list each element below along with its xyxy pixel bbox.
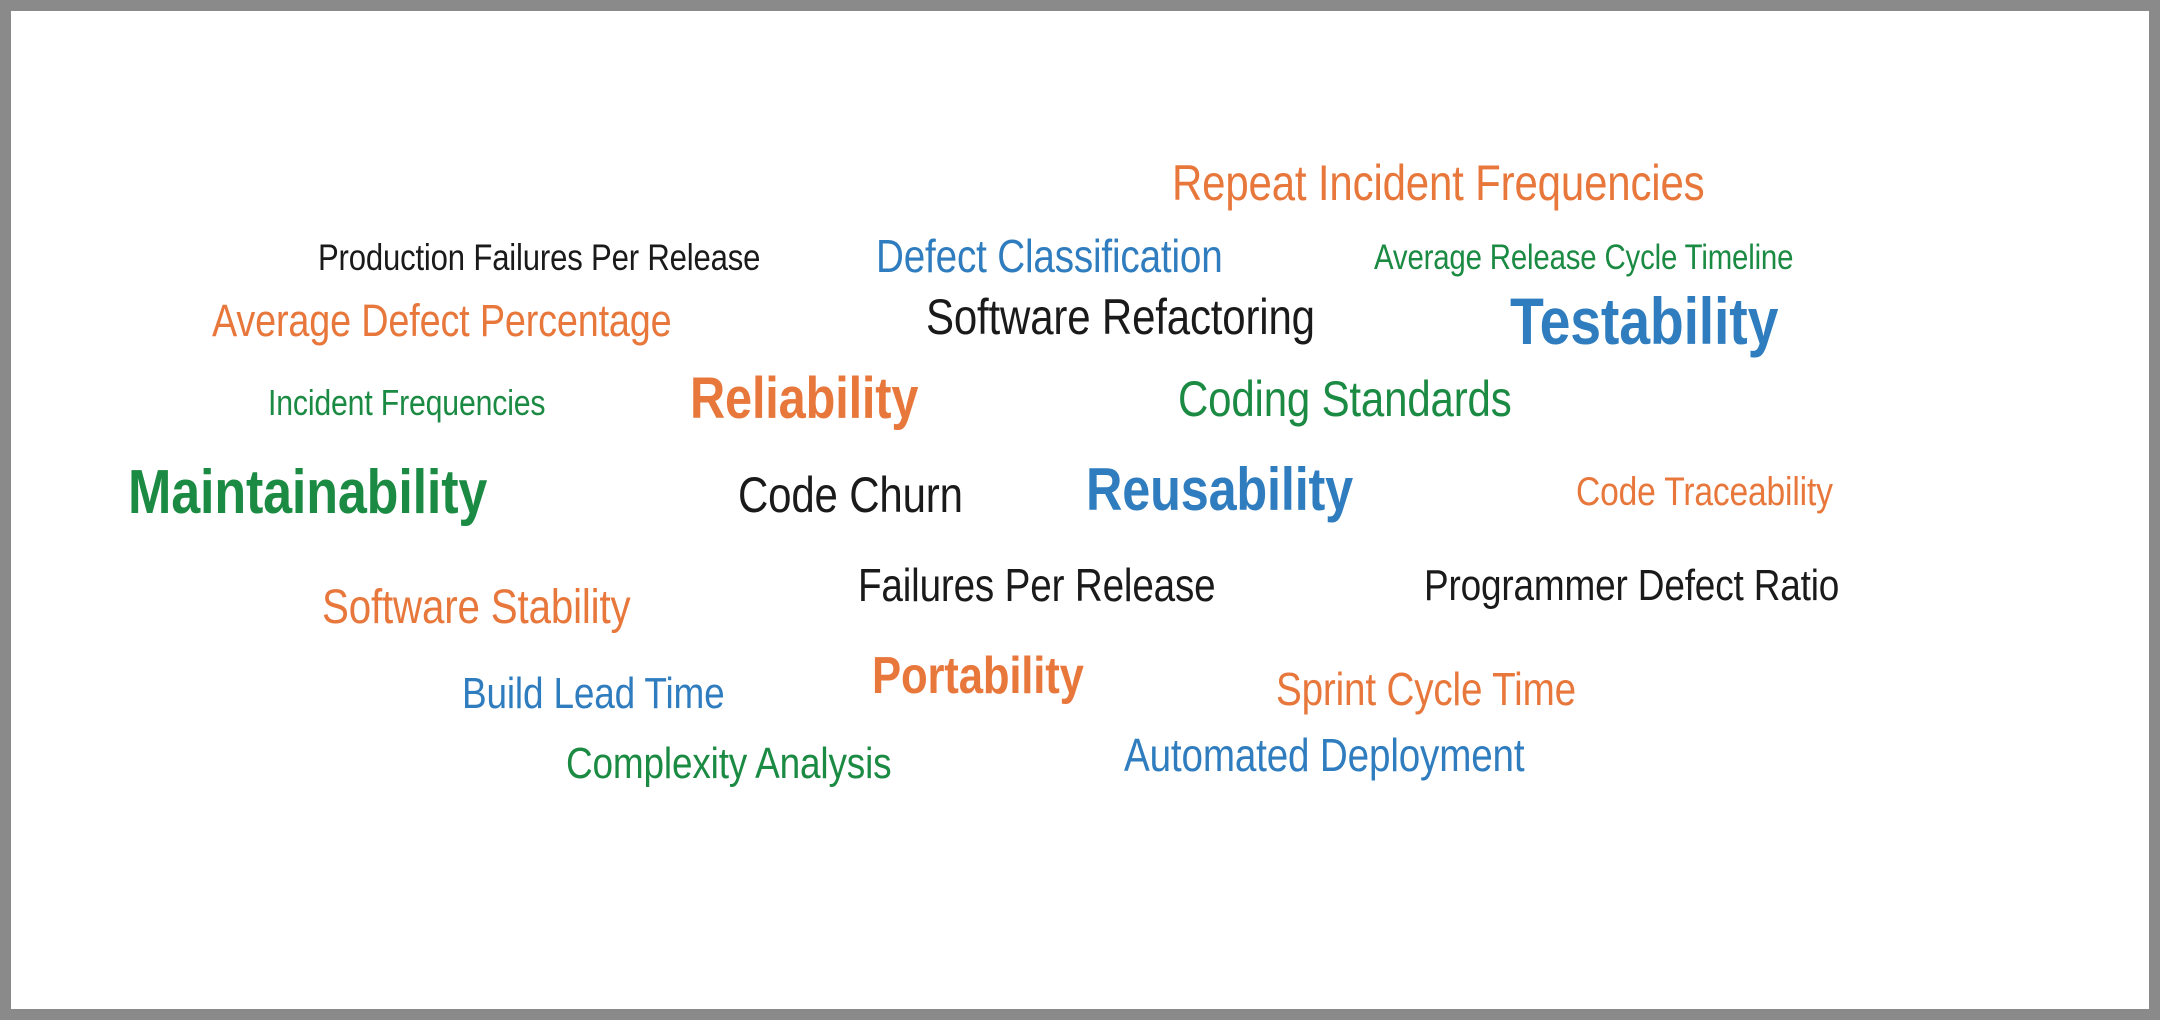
cloud-word: Failures Per Release [858,562,1215,608]
cloud-word: Defect Classification [876,233,1223,279]
wordcloud-frame: Repeat Incident FrequenciesProduction Fa… [0,0,2160,1020]
cloud-word: Production Failures Per Release [318,239,760,276]
cloud-word: Reliability [690,370,918,428]
wordcloud-canvas: Repeat Incident FrequenciesProduction Fa… [11,11,2149,1009]
cloud-word: Automated Deployment [1124,732,1524,778]
cloud-word: Portability [872,650,1084,702]
cloud-word: Testability [1510,288,1778,354]
cloud-word: Complexity Analysis [566,742,891,786]
cloud-word: Build Lead Time [462,672,725,716]
cloud-word: Average Defect Percentage [212,298,672,343]
cloud-word: Reusability [1086,460,1353,520]
cloud-word: Programmer Defect Ratio [1424,564,1839,608]
cloud-word: Code Churn [738,470,963,520]
cloud-word: Average Release Cycle Timeline [1374,240,1793,275]
cloud-word: Software Stability [322,584,630,632]
cloud-word: Software Refactoring [926,292,1315,342]
cloud-word: Coding Standards [1178,374,1512,424]
cloud-word: Code Traceability [1576,472,1833,512]
cloud-word: Repeat Incident Frequencies [1172,158,1704,208]
cloud-word: Incident Frequencies [268,385,545,421]
cloud-word: Maintainability [128,462,487,524]
cloud-word: Sprint Cycle Time [1276,666,1576,712]
